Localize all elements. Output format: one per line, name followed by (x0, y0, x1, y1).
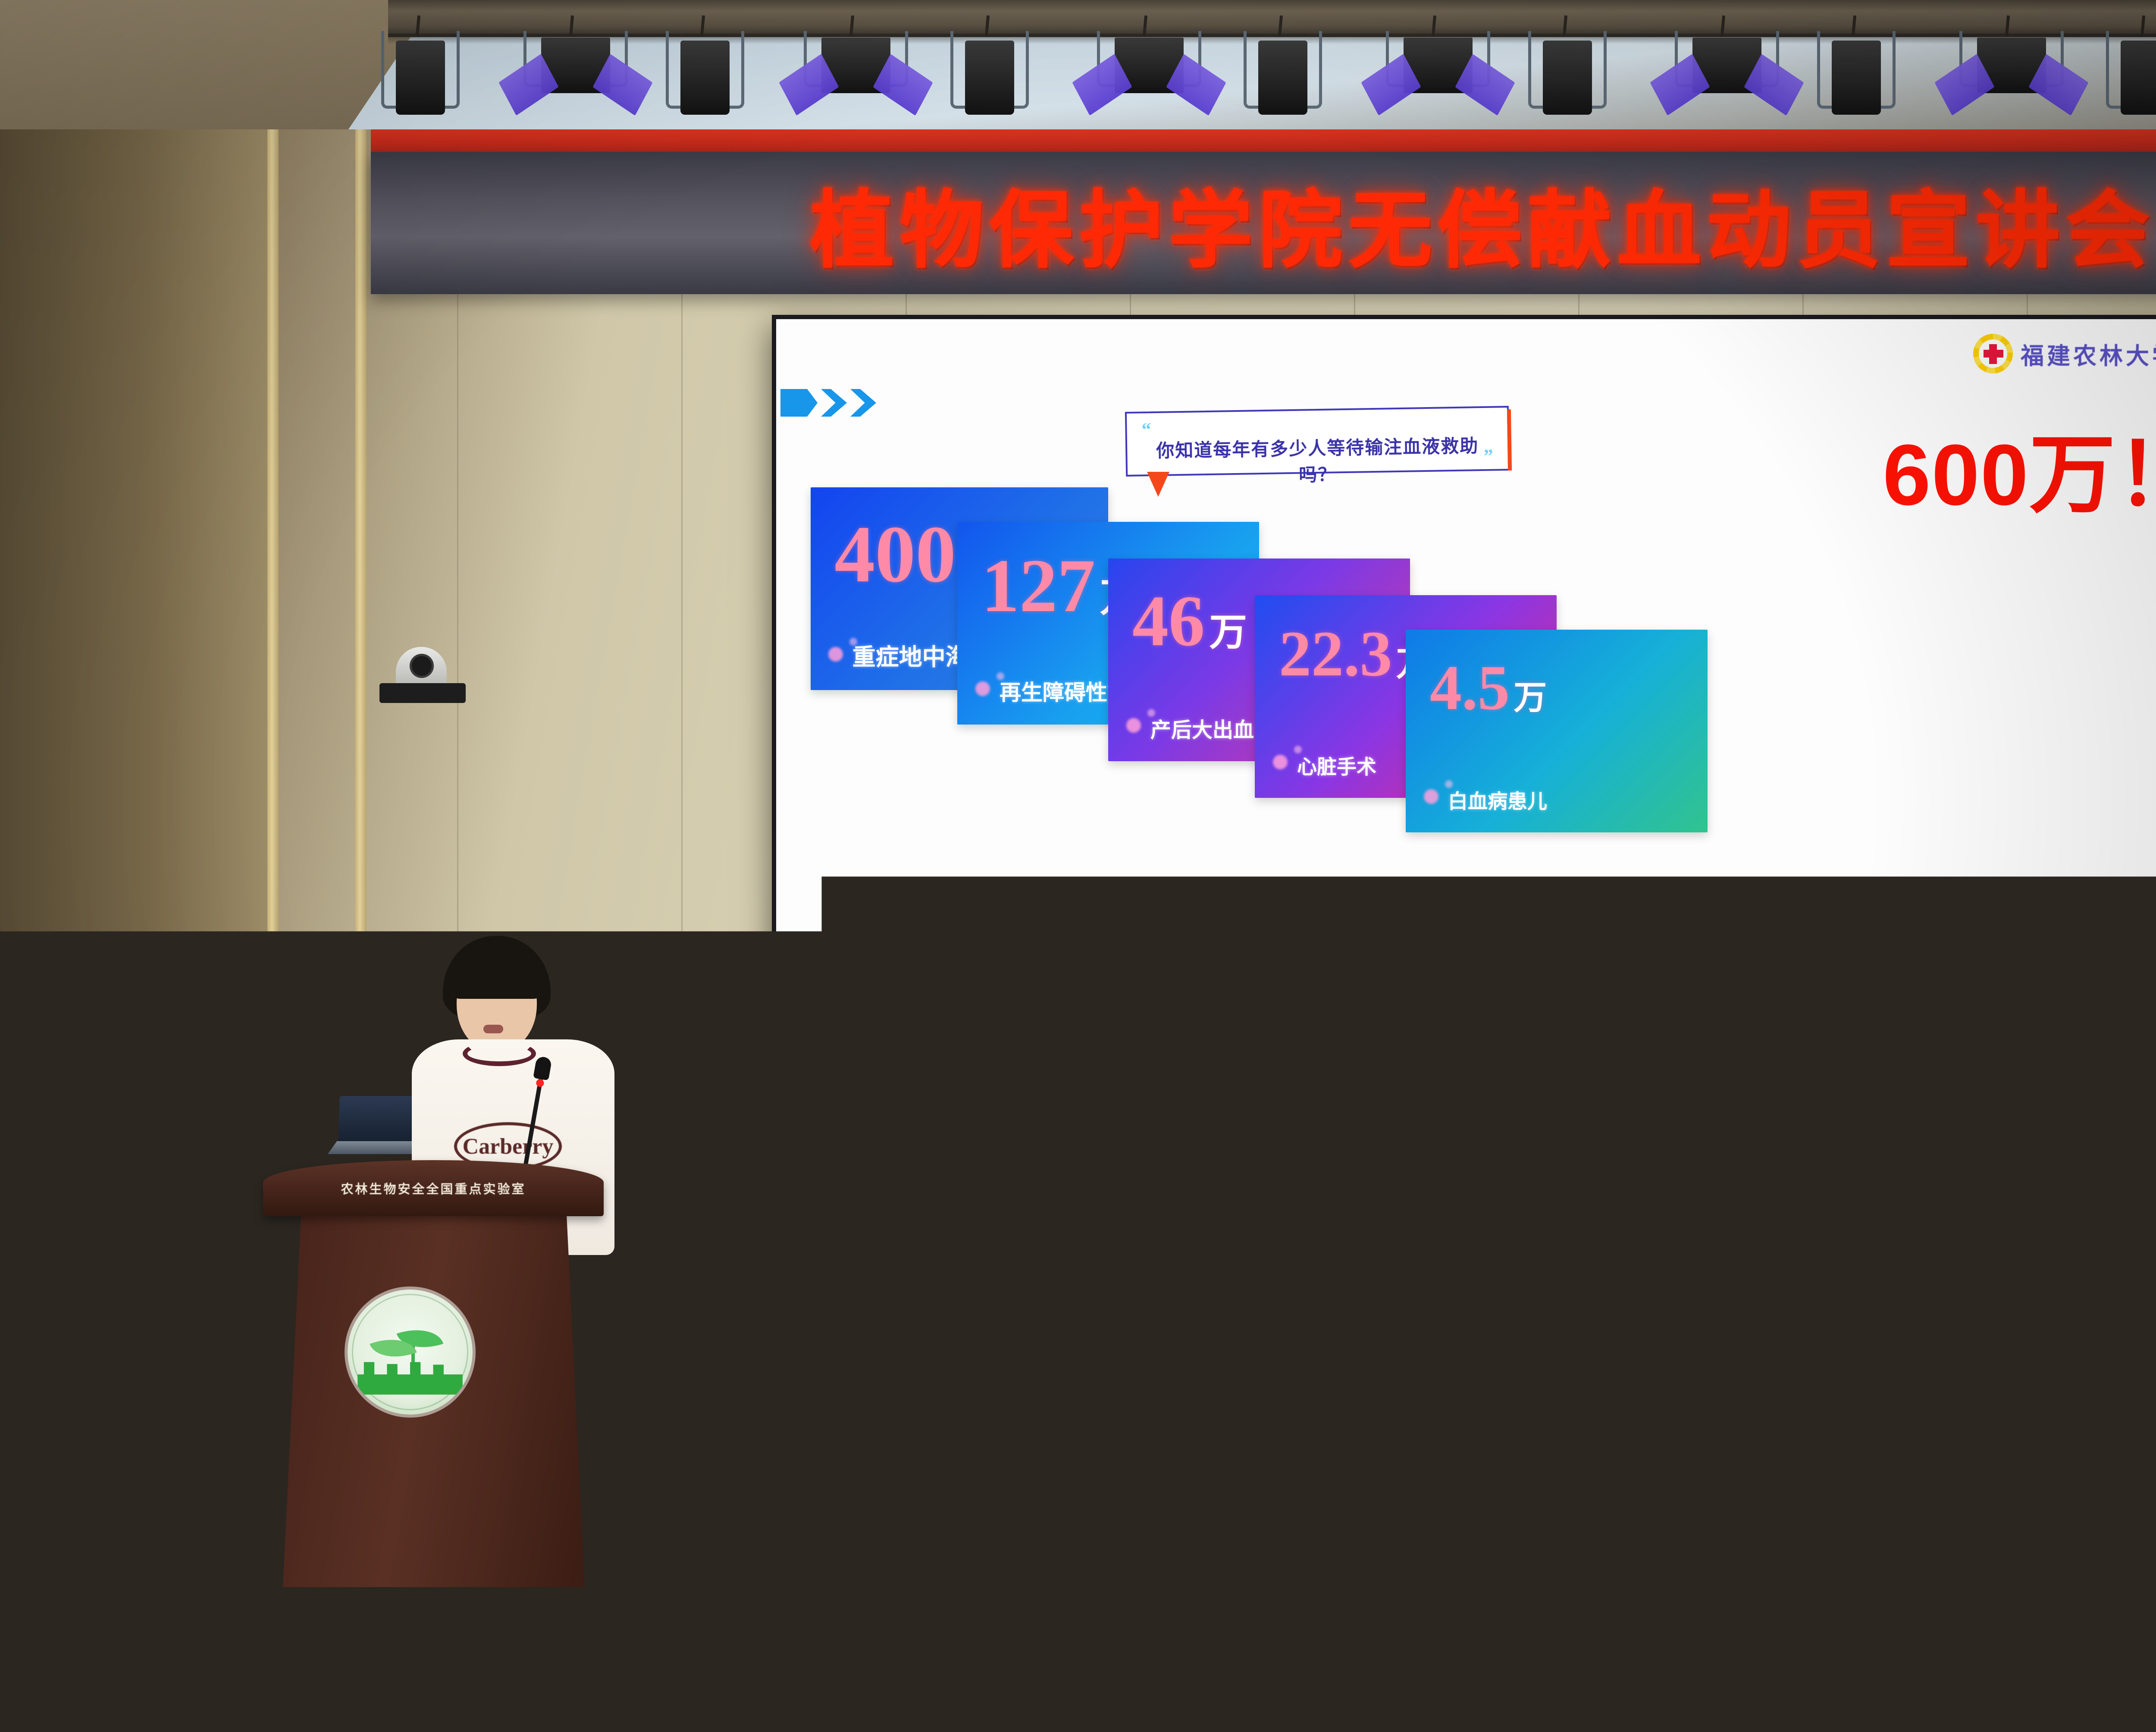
stat-value: 400 (834, 509, 956, 599)
light-body (680, 41, 730, 115)
water-bottle (1212, 1232, 1235, 1296)
audience-seating: 3105 3107 3105 31 (0, 1223, 2156, 1732)
light-body (396, 41, 445, 115)
seat[interactable] (733, 1275, 918, 1383)
audience-head (52, 1564, 177, 1710)
presenter-fringe (445, 957, 548, 999)
stage-light (1824, 28, 1889, 115)
stat-card-label: 白血病患儿 (1448, 786, 1547, 814)
seat[interactable]: 3105 (448, 1275, 634, 1383)
decorative-stripe-band (776, 1128, 2156, 1169)
stage-light (530, 28, 621, 93)
audience-head (1324, 1551, 1457, 1702)
stat-unit: 万 (1209, 612, 1247, 653)
stat-card-label: 产后大出血 (1150, 713, 1254, 743)
bottle-cap (1510, 1221, 1523, 1233)
water-bottle (1798, 1232, 1821, 1296)
seat[interactable]: 3105 (1613, 1275, 1798, 1383)
bottle-cap (924, 1221, 937, 1233)
stage-light (1393, 28, 1483, 93)
stat-value: 127 (981, 544, 1095, 628)
stat-value: 22.3 (1279, 618, 1392, 690)
stage-light (1535, 28, 1600, 115)
water-bottle (625, 1232, 649, 1296)
light-body (1258, 41, 1307, 115)
light-body (1543, 41, 1592, 115)
seat-number-plate: 3105 (1689, 1346, 1722, 1359)
bottle-cap (1803, 1221, 1816, 1233)
audience-head (1928, 1361, 1997, 1439)
audience-head (1535, 1646, 1673, 1732)
seat-wood (1457, 1533, 1673, 1607)
stat-card-number: 4.5万 (1430, 656, 1547, 720)
seat-number-plate: 3106 (298, 1563, 332, 1575)
audience-head (522, 1551, 651, 1697)
seat-number-plate: 3107 (1103, 1346, 1136, 1359)
light-body (2121, 41, 2156, 115)
stat-card-number: 46万 (1132, 585, 1247, 657)
event-banner: 植物保护学院无偿献血动员宣讲会 (371, 152, 2156, 294)
water-bottle (1505, 1232, 1528, 1296)
bottle-cap (1217, 1221, 1230, 1233)
stat-value: 4.5 (1430, 653, 1510, 723)
stage-light (1250, 28, 1315, 115)
ptz-camera (379, 638, 466, 703)
seat-number-plate: 3105 (1040, 1563, 1073, 1575)
audience-head (241, 1581, 371, 1732)
presenter-mouth (483, 1025, 503, 1033)
seat-wood (733, 1327, 918, 1383)
stage-light (2113, 28, 2156, 115)
seat[interactable] (1906, 1275, 2091, 1383)
bottle-label (1505, 1255, 1528, 1276)
seat[interactable] (1457, 1465, 1673, 1607)
audience-head (384, 1654, 526, 1732)
audience-head (1044, 1577, 1173, 1723)
camera-lens-icon (410, 654, 434, 678)
projection-screen: 福建农林大学红十字会 “ 你知道每年有多少人等待输注血液救助吗？ ” 600万！… (772, 315, 2156, 1173)
stat-value: 46 (1132, 581, 1205, 661)
stat-unit: 万 (1514, 679, 1547, 716)
orange-bar (776, 1128, 2156, 1138)
stat-card: 4.5万 白血病患儿 (1406, 630, 1708, 832)
auditorium-scene: 植物保护学院无偿献血动员宣讲会 福建农林大学红十字会 “ 你知道每年有多少人等待… (0, 0, 2156, 1732)
audience-head (1768, 1585, 1893, 1728)
podium-top: 农林生物安全全国重点实验室 (263, 1160, 604, 1216)
diagonal-stripes (776, 1140, 2156, 1169)
seat-wood (1906, 1327, 2091, 1383)
bottle-label (918, 1255, 942, 1276)
stat-card-label: 心脏手术 (1297, 751, 1376, 780)
banner-top-trim (371, 129, 2156, 153)
bottle-cap (630, 1221, 643, 1233)
water-bottle (918, 1232, 942, 1296)
audience-head (819, 1525, 957, 1680)
seat[interactable] (1319, 1275, 1505, 1383)
bottle-label (625, 1255, 649, 1276)
stage-light (811, 28, 901, 93)
seat[interactable]: 3107 (1026, 1275, 1212, 1383)
podium-label: 农林生物安全全国重点实验室 (263, 1179, 604, 1197)
stage-light (673, 28, 737, 115)
seat[interactable]: 3108 (1712, 1465, 1927, 1607)
stage-light (1682, 28, 1772, 93)
audience-head (1023, 1374, 1092, 1452)
presentation-slide: 福建农林大学红十字会 “ 你知道每年有多少人等待输注血液救助吗？ ” 600万！… (776, 319, 2156, 1169)
stage-light (388, 28, 453, 115)
bottle-label (1212, 1255, 1235, 1276)
stage-light (1104, 28, 1194, 93)
light-body (1832, 41, 1881, 115)
stage-light (1966, 28, 2057, 93)
seat-number-plate: 3108 (1803, 1563, 1836, 1575)
presenter-collar (463, 1041, 536, 1066)
bottle-label (1798, 1255, 1821, 1276)
ceiling-soffit (0, 0, 436, 142)
banner-title: 植物保护学院无偿献血动员宣讲会 (810, 162, 2155, 284)
seat-number-plate: 3105 (525, 1346, 558, 1359)
light-body (965, 41, 1014, 115)
seat-wood (1319, 1327, 1505, 1383)
camera-mount (379, 683, 466, 703)
stat-card-stack: 400万 重症地中海贫血 127万 再生障碍性贫血 46万 产后大出血 22.3… (776, 319, 2156, 1169)
stage-light (957, 28, 1022, 115)
audience-head (1385, 1374, 1454, 1452)
